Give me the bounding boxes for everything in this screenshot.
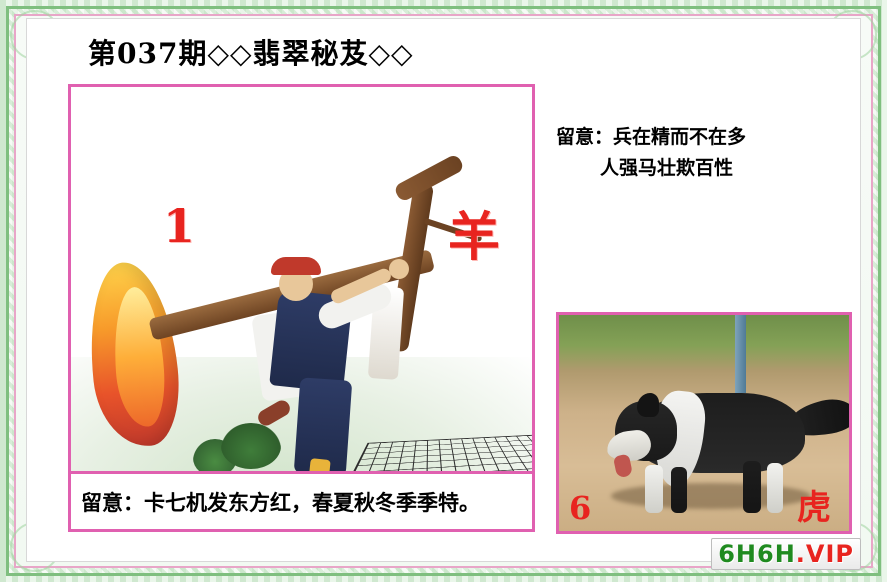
notes-line-2: 人强马壮欺百性 [556,153,856,184]
main-panel-zodiac: 羊 [448,195,500,270]
photo-dog-leg-front-2 [671,467,687,513]
watermark: 6H6H.VIP [711,540,861,568]
main-panel-number: 1 [163,199,195,253]
photo-panel-zodiac: 虎 [797,480,831,529]
photo-dog-leg-rear-2 [767,463,783,513]
main-illustration-panel: 1 羊 留意：卡七机发东方红，春夏秋冬季季特。 [68,84,535,532]
photo-panel-number: 6 [569,489,591,527]
illustration-person-hat [271,257,321,275]
photo-grass [559,315,849,379]
photo-dog-leg-front [645,465,663,513]
photo-dog-ear [637,393,659,417]
illustration-bush [221,423,281,469]
page-title: 第037期◇◇翡翠秘芨◇◇ [88,32,414,72]
photo-panel: 6 虎 [556,312,852,534]
notes-line-1: 留意：兵在精而不在多 [556,122,856,153]
watermark-box: 6H6H.VIP [711,538,861,570]
main-panel-caption-text: 留意：卡七机发东方红，春夏秋冬季季特。 [81,487,480,517]
watermark-text-red: .VIP [796,540,854,568]
photo-dog-leg-rear [743,461,761,513]
watermark-text-green: 6H6H [718,540,796,568]
notes-block: 留意：兵在精而不在多 人强马壮欺百性 [556,122,856,185]
illustration-canvas: 1 羊 [71,87,532,477]
page-root: 第037期◇◇翡翠秘芨◇◇ 1 羊 [0,0,887,582]
photo-pole [735,315,746,393]
illustration-person-hand [389,259,409,279]
main-panel-caption: 留意：卡七机发东方红，春夏秋冬季季特。 [71,471,532,529]
